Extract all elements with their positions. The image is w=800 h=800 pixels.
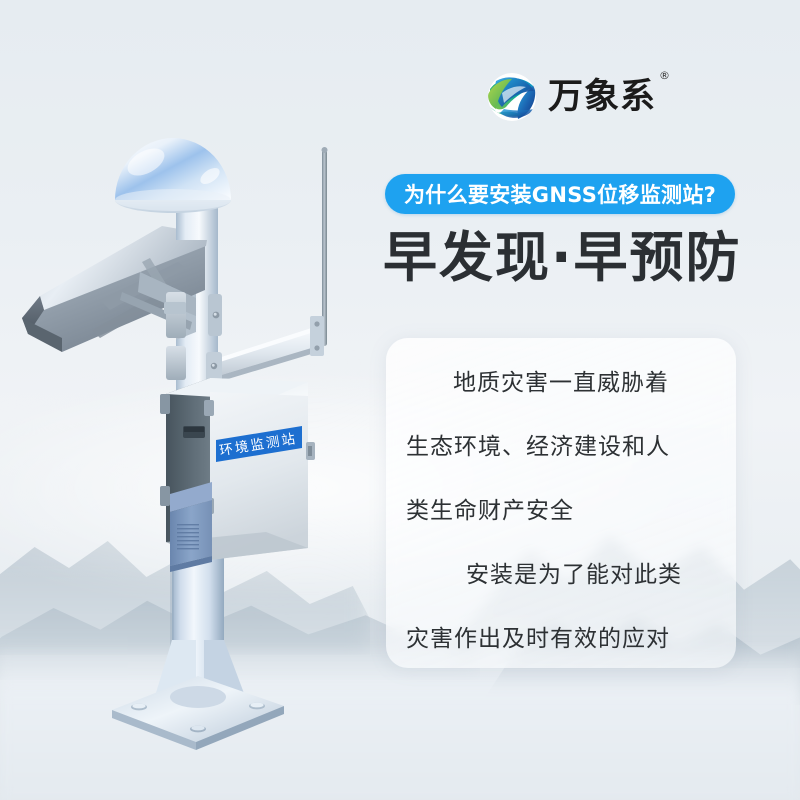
description-line-1: 地质灾害一直威胁着 <box>406 372 716 395</box>
solar-panel <box>22 226 222 352</box>
description-line-2: 生态环境、经济建设和人 <box>406 436 716 459</box>
device-illustration: 环境监测站 <box>0 0 400 800</box>
page-title: 早发现·早预防 <box>383 228 742 287</box>
poster-stage: 环境监测站 <box>0 0 800 800</box>
enclosure-box: 环境监测站 <box>160 378 315 572</box>
registered-mark: ® <box>659 70 671 81</box>
brand-lockup: 万象系 ® <box>484 66 664 128</box>
vented-module <box>170 482 212 572</box>
gnss-dome-antenna <box>115 138 231 240</box>
question-banner: 为什么要安装GNSS位移监测站? <box>385 174 735 214</box>
description-card: 地质灾害一直威胁着 生态环境、经济建设和人 类生命财产安全 安装是为了能对此类 … <box>386 338 736 668</box>
brand-name: 万象系 ® <box>548 80 656 115</box>
description-line-3: 类生命财产安全 <box>406 500 716 523</box>
swirl-globe-icon <box>484 69 540 125</box>
description-line-4: 安装是为了能对此类 <box>406 564 716 587</box>
description-line-5: 灾害作出及时有效的应对 <box>406 628 716 651</box>
question-banner-text: 为什么要安装GNSS位移监测站? <box>404 179 716 209</box>
brand-name-text: 万象系 <box>548 77 656 117</box>
